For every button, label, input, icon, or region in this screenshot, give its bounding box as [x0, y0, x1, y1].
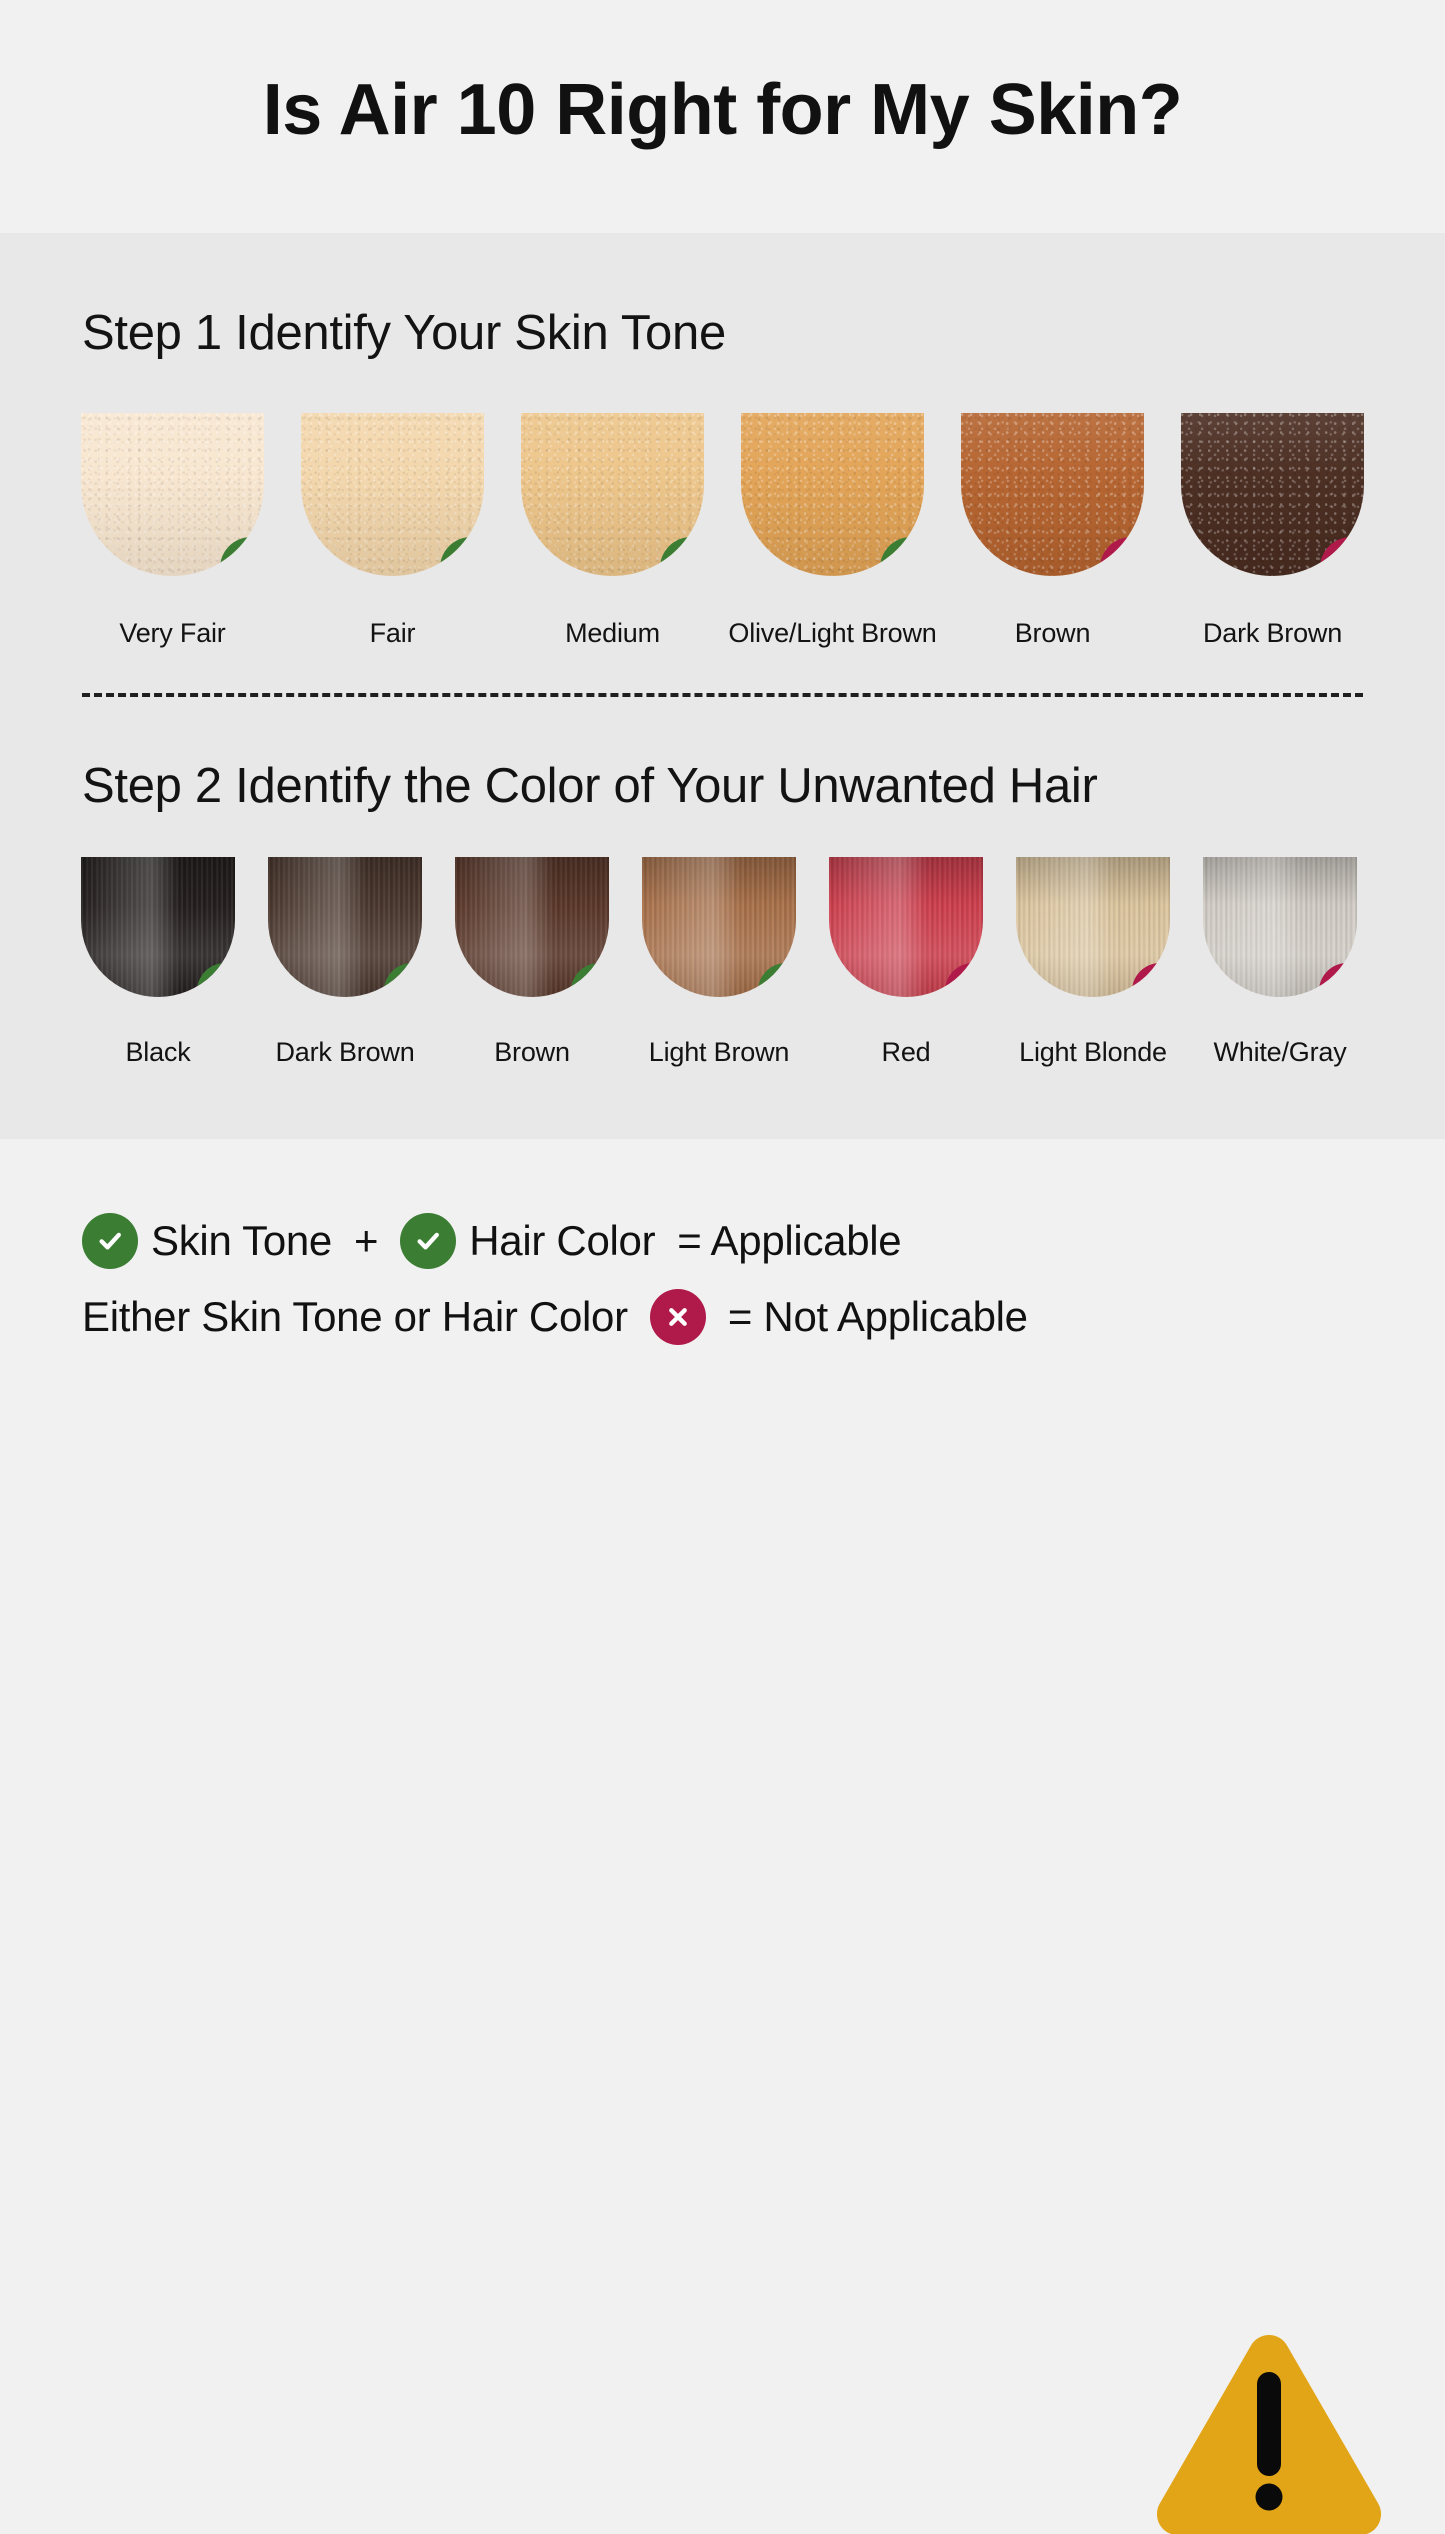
hair-color-swatch-cell[interactable]: Light Blonde	[1016, 857, 1170, 1068]
header-band: Is Air 10 Right for My Skin?	[0, 0, 1445, 233]
hair-color-swatch-label: White/Gray	[1213, 1037, 1346, 1068]
skin-tone-swatch-label: Dark Brown	[1203, 618, 1342, 649]
hair-color-swatch[interactable]	[1203, 857, 1357, 997]
skin-tone-swatch[interactable]	[961, 413, 1144, 576]
hair-color-swatch[interactable]	[1016, 857, 1170, 997]
hair-color-swatch[interactable]	[455, 857, 609, 997]
x-icon	[650, 1289, 706, 1345]
legend-skin-tone-label: Skin Tone	[151, 1217, 332, 1265]
check-icon	[82, 1213, 138, 1269]
hair-color-swatch-label: Black	[125, 1037, 190, 1068]
hair-color-swatch-row: BlackDark BrownBrownLight BrownRedLight …	[81, 857, 1357, 1068]
hair-color-swatch-label: Light Blonde	[1019, 1037, 1167, 1068]
section-divider	[82, 693, 1363, 697]
skin-tone-swatch[interactable]	[81, 413, 264, 576]
skin-tone-swatch-cell[interactable]: Olive/Light Brown	[741, 413, 924, 649]
warning-triangle-icon	[1153, 2329, 1385, 2534]
page-title: Is Air 10 Right for My Skin?	[263, 74, 1182, 160]
skin-tone-swatch-label: Medium	[565, 618, 660, 649]
hair-color-swatch[interactable]	[829, 857, 983, 997]
skin-tone-swatch-label: Very Fair	[119, 618, 225, 649]
legend-applicable-result: = Applicable	[677, 1217, 901, 1265]
hair-color-swatch-cell[interactable]: Black	[81, 857, 235, 1068]
hair-color-swatch[interactable]	[268, 857, 422, 997]
skin-tone-swatch-label: Olive/Light Brown	[728, 618, 936, 649]
skin-tone-swatch[interactable]	[1181, 413, 1364, 576]
legend-band: Skin Tone + Hair Color = Applicable Eith…	[0, 1139, 1445, 1445]
step-2-heading: Step 2 Identify the Color of Your Unwant…	[82, 758, 1098, 814]
hair-color-swatch-cell[interactable]: Light Brown	[642, 857, 796, 1068]
skin-tone-swatch-cell[interactable]: Brown	[961, 413, 1144, 649]
legend-hair-color-label: Hair Color	[469, 1217, 655, 1265]
skin-tone-swatch[interactable]	[301, 413, 484, 576]
step-1-heading: Step 1 Identify Your Skin Tone	[82, 305, 726, 361]
hair-color-swatch-cell[interactable]: White/Gray	[1203, 857, 1357, 1068]
legend-either-label: Either Skin Tone or Hair Color	[82, 1293, 628, 1341]
skin-tone-swatch[interactable]	[521, 413, 704, 576]
skin-tone-swatch-cell[interactable]: Fair	[301, 413, 484, 649]
skin-tone-swatch-label: Fair	[370, 618, 416, 649]
hair-color-swatch-cell[interactable]: Dark Brown	[268, 857, 422, 1068]
hair-color-swatch-label: Light Brown	[649, 1037, 789, 1068]
hair-color-swatch[interactable]	[81, 857, 235, 997]
skin-tone-swatch-row: Very FairFairMediumOlive/Light BrownBrow…	[81, 413, 1364, 649]
skin-tone-swatch-cell[interactable]: Very Fair	[81, 413, 264, 649]
hair-color-swatch[interactable]	[642, 857, 796, 997]
hair-color-swatch-label: Dark Brown	[275, 1037, 414, 1068]
hair-color-swatch-label: Brown	[494, 1037, 570, 1068]
legend-plus-symbol: +	[354, 1217, 378, 1265]
legend-line-applicable: Skin Tone + Hair Color = Applicable	[82, 1213, 1028, 1269]
legend-lines: Skin Tone + Hair Color = Applicable Eith…	[82, 1213, 1028, 1345]
skin-tone-swatch[interactable]	[741, 413, 924, 576]
skin-tone-swatch-label: Brown	[1015, 618, 1091, 649]
hair-color-swatch-label: Red	[882, 1037, 931, 1068]
hair-color-swatch-cell[interactable]: Red	[829, 857, 983, 1068]
skin-tone-swatch-cell[interactable]: Medium	[521, 413, 704, 649]
legend-not-applicable-result: = Not Applicable	[728, 1293, 1028, 1341]
check-icon	[400, 1213, 456, 1269]
hair-color-swatch-cell[interactable]: Brown	[455, 857, 609, 1068]
legend-line-not-applicable: Either Skin Tone or Hair Color = Not App…	[82, 1289, 1028, 1345]
steps-band: Step 1 Identify Your Skin Tone Very Fair…	[0, 233, 1445, 1139]
skin-tone-swatch-cell[interactable]: Dark Brown	[1181, 413, 1364, 649]
